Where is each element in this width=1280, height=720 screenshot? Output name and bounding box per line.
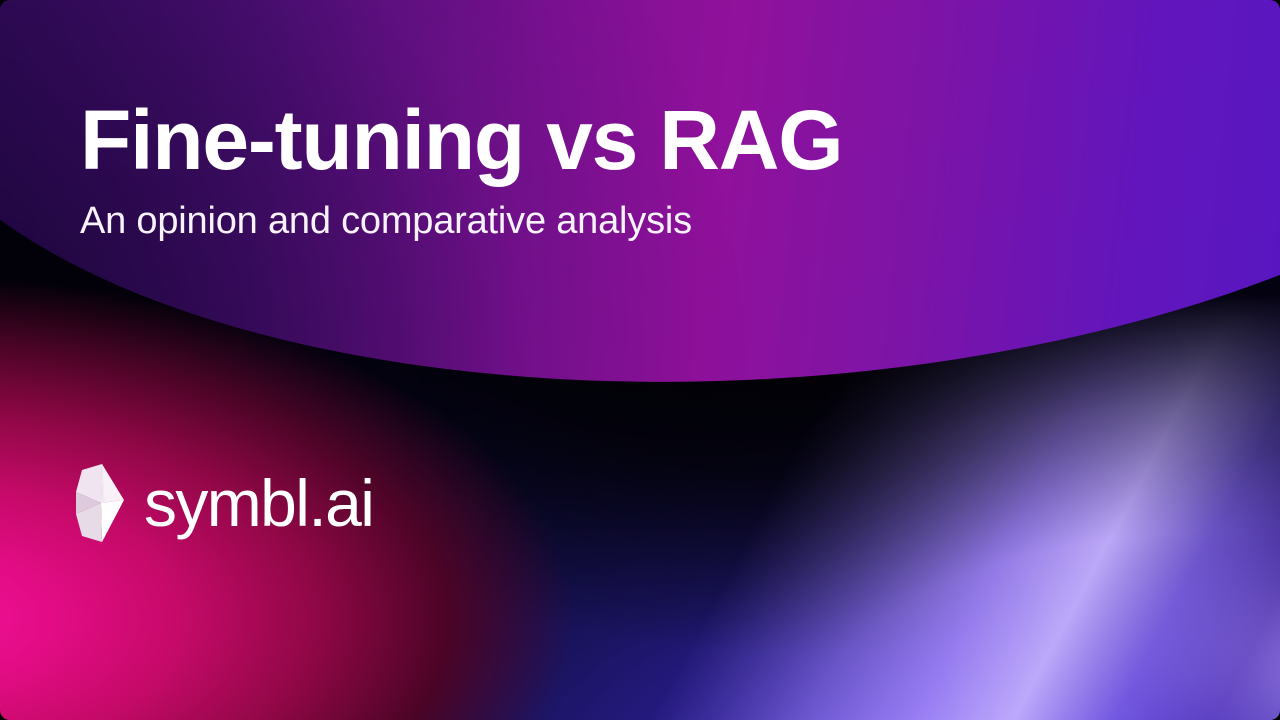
brand-wordmark: symbl.ai bbox=[144, 470, 373, 536]
page-subtitle: An opinion and comparative analysis bbox=[80, 199, 1140, 245]
page-title: Fine-tuning vs RAG bbox=[80, 96, 1140, 185]
symbl-diamond-icon bbox=[72, 462, 128, 544]
title-card: Fine-tuning vs RAG An opinion and compar… bbox=[0, 0, 1280, 720]
brand-logo-lockup: symbl.ai bbox=[72, 462, 373, 544]
headline-block: Fine-tuning vs RAG An opinion and compar… bbox=[80, 96, 1140, 245]
